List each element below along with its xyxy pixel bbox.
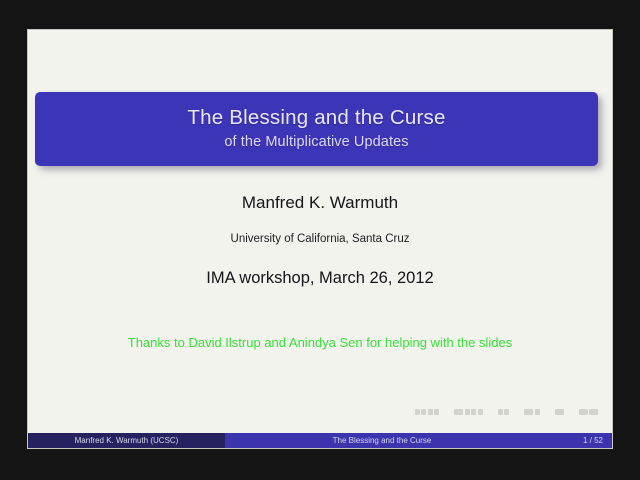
video-viewport: The Blessing and the Curse of the Multip… xyxy=(0,0,640,480)
page-title: The Blessing and the Curse xyxy=(187,107,445,130)
section-navigation-group[interactable] xyxy=(524,409,540,415)
section-next-icon[interactable] xyxy=(535,409,540,415)
subsection-next-icon[interactable] xyxy=(504,409,509,415)
document-navigation-group[interactable] xyxy=(555,409,564,415)
footer-title: The Blessing and the Curse xyxy=(225,433,539,448)
institute-name: University of California, Santa Cruz xyxy=(28,233,612,245)
section-prev-icon[interactable] xyxy=(524,409,533,415)
frame-next-icon[interactable] xyxy=(471,409,476,415)
slide-footer: Manfred K. Warmuth (UCSC) The Blessing a… xyxy=(28,433,612,448)
slide-first-icon[interactable] xyxy=(415,409,420,415)
subsection-navigation-group[interactable] xyxy=(498,409,510,415)
acknowledgement-text: Thanks to David Ilstrup and Anindya Sen … xyxy=(28,335,612,350)
slide-prev-icon[interactable] xyxy=(421,409,426,415)
presentation-slide: The Blessing and the Curse of the Multip… xyxy=(28,30,612,448)
footer-author: Manfred K. Warmuth (UCSC) xyxy=(28,433,225,448)
search-group[interactable] xyxy=(579,409,599,415)
title-block: The Blessing and the Curse of the Multip… xyxy=(35,92,598,166)
frame-prev-icon[interactable] xyxy=(465,409,470,415)
frame-navigation-group[interactable] xyxy=(454,409,483,415)
doc-forward-icon[interactable] xyxy=(589,409,598,415)
slide-last-icon[interactable] xyxy=(434,409,439,415)
search-icon[interactable] xyxy=(579,409,588,415)
beamer-navigation-bar[interactable] xyxy=(415,409,599,415)
frame-last-icon[interactable] xyxy=(478,409,483,415)
slide-next-icon[interactable] xyxy=(428,409,433,415)
doc-back-icon[interactable] xyxy=(555,409,564,415)
author-name: Manfred K. Warmuth xyxy=(28,193,612,213)
page-subtitle: of the Multiplicative Updates xyxy=(224,135,408,151)
event-date: IMA workshop, March 26, 2012 xyxy=(28,269,612,288)
slide-navigation-group[interactable] xyxy=(415,409,440,415)
frame-first-icon[interactable] xyxy=(454,409,463,415)
subsection-prev-icon[interactable] xyxy=(498,409,503,415)
footer-page-indicator: 1 / 52 xyxy=(539,433,612,448)
